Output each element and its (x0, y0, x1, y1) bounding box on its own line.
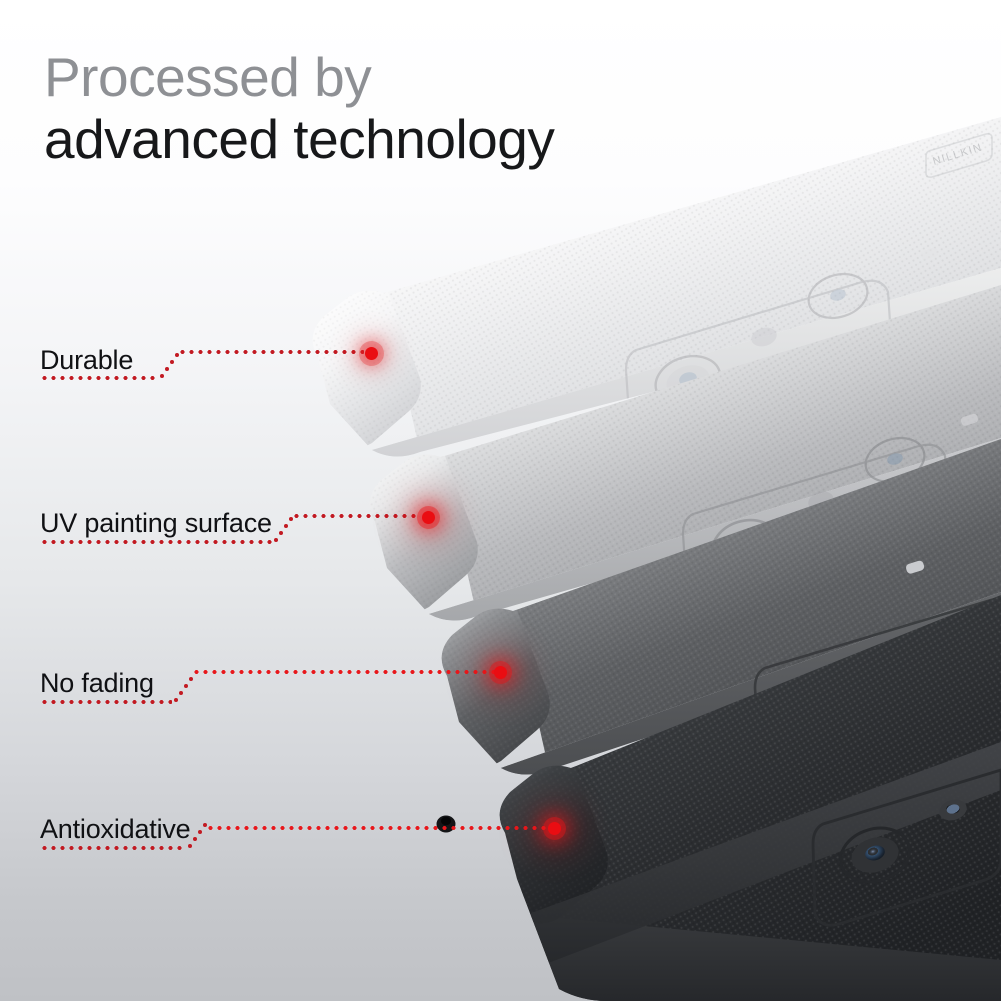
heading-line-1: Processed by (44, 50, 554, 105)
annotation-underline-antioxidative (40, 846, 186, 850)
annotation-underline-uv-painting-surface (40, 540, 272, 544)
annotation-label-durable: Durable (40, 347, 133, 374)
annotation-leader-no-fading (192, 670, 496, 674)
annotation-leader-durable (178, 350, 364, 354)
annotation-leader-antioxidative (206, 826, 548, 830)
annotation-marker-durable[interactable] (365, 347, 378, 360)
annotation-marker-antioxidative[interactable] (548, 822, 561, 835)
annotation-label-no-fading: No fading (40, 670, 154, 697)
annotation-underline-durable (40, 376, 158, 380)
annotation-underline-no-fading (40, 700, 172, 704)
annotation-label-antioxidative: Antioxidative (40, 816, 191, 843)
annotation-label-uv-painting-surface: UV painting surface (40, 510, 272, 537)
annotation-marker-no-fading[interactable] (494, 666, 507, 679)
annotation-marker-uv-painting-surface[interactable] (422, 511, 435, 524)
heading-line-2: advanced technology (44, 112, 554, 167)
product-feature-banner: NILLKIN (0, 0, 1001, 1001)
annotation-leader-uv-painting-surface (292, 514, 420, 518)
page-title: Processed by advanced technology (44, 50, 554, 167)
